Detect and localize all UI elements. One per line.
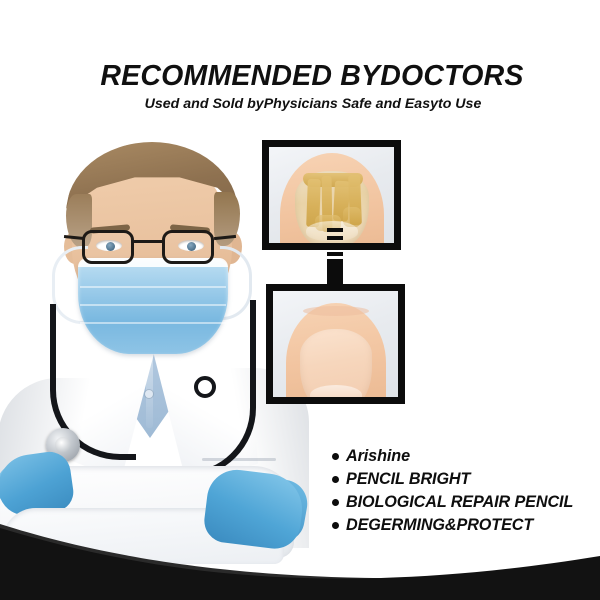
nail-cuticle — [303, 306, 369, 316]
nail-tip-highlight — [310, 385, 362, 404]
bullet-icon — [332, 499, 339, 506]
mask-pleat — [80, 286, 226, 288]
shirt-button — [145, 390, 153, 398]
stethoscope-tubing-loop — [194, 376, 216, 398]
arrow-dash-segment — [327, 244, 343, 248]
bullet-icon — [332, 453, 339, 460]
bullet-icon — [332, 476, 339, 483]
arrow-dash-segment — [327, 252, 343, 256]
arrow-dash-segment — [327, 236, 343, 240]
after-nail-photo-frame — [266, 284, 405, 404]
feature-label: PENCIL BRIGHT — [346, 470, 470, 489]
subheadline-text: Used and Sold byPhysicians Safe and Easy… — [0, 97, 600, 113]
list-item: Arishine — [332, 446, 594, 467]
eyeglasses-bridge — [134, 240, 162, 243]
swoosh-front-layer — [0, 528, 600, 600]
eyeglasses-lens-left — [82, 230, 134, 264]
feature-label: Arishine — [346, 447, 410, 466]
list-item: PENCIL BRIGHT — [332, 469, 594, 490]
nail-plate-healthy — [300, 329, 372, 404]
arrow-dash-segment — [327, 228, 343, 232]
eyeglasses-lens-right — [162, 230, 214, 264]
bottom-swoosh-decoration — [0, 510, 600, 600]
product-advertisement-poster: RECOMMENDED BYDOCTORS Used and Sold byPh… — [0, 0, 600, 600]
headline-text: RECOMMENDED BYDOCTORS — [0, 62, 600, 92]
headline-block: RECOMMENDED BYDOCTORS Used and Sold byPh… — [0, 62, 600, 113]
